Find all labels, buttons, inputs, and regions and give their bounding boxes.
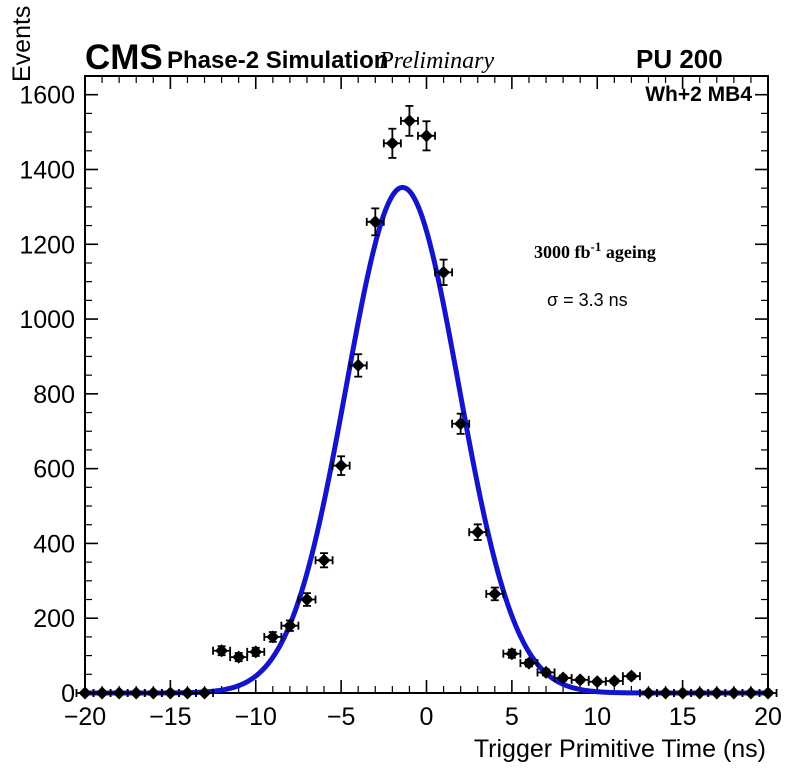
- data-point: [145, 687, 162, 700]
- data-point: [657, 687, 674, 700]
- ageing-exponent: -1: [591, 239, 602, 254]
- data-point: [367, 208, 384, 235]
- marker-diamond: [471, 526, 484, 539]
- data-point: [469, 524, 486, 540]
- preliminary-label: Preliminary: [378, 48, 494, 74]
- marker-diamond: [727, 687, 740, 700]
- marker-diamond: [676, 687, 689, 700]
- y-axis-title: Events: [8, 6, 36, 82]
- sigma-annotation: σ = 3.3 ns: [547, 290, 628, 310]
- header-band: CMS Phase-2 Simulation Preliminary PU 20…: [85, 38, 723, 77]
- ageing-value: 3000 fb: [534, 242, 591, 262]
- data-point: [691, 687, 708, 700]
- data-point: [418, 121, 435, 150]
- x-tick-label: 15: [669, 703, 697, 731]
- x-axis-tick-labels: −20−15−10−505101520: [64, 703, 782, 731]
- data-point: [264, 630, 281, 643]
- figure-root: CMS Phase-2 Simulation Preliminary PU 20…: [0, 0, 796, 772]
- marker-diamond: [181, 687, 194, 700]
- marker-diamond: [403, 114, 416, 127]
- data-point: [196, 687, 213, 700]
- plot-svg: CMS Phase-2 Simulation Preliminary PU 20…: [0, 0, 796, 772]
- y-tick-label: 1000: [19, 306, 75, 334]
- x-tick-label: −15: [149, 703, 191, 731]
- y-tick-label: 1400: [19, 156, 75, 184]
- marker-diamond: [591, 675, 604, 688]
- data-point: [128, 687, 145, 700]
- y-tick-label: 600: [33, 456, 75, 484]
- data-point: [111, 687, 128, 700]
- marker-diamond: [625, 670, 638, 683]
- x-tick-label: 0: [420, 703, 434, 731]
- marker-diamond: [79, 687, 92, 700]
- marker-diamond: [215, 644, 228, 657]
- gaussian-fit-curve: [85, 187, 768, 693]
- marker-diamond: [232, 651, 245, 664]
- marker-diamond: [386, 137, 399, 150]
- marker-diamond: [249, 645, 262, 658]
- marker-diamond: [693, 687, 706, 700]
- data-point: [503, 647, 520, 660]
- y-tick-label: 1600: [19, 82, 75, 110]
- data-point: [230, 651, 247, 664]
- data-point: [640, 687, 657, 700]
- data-point: [401, 106, 418, 136]
- marker-diamond: [198, 687, 211, 700]
- pileup-label: PU 200: [636, 44, 723, 74]
- ageing-annotation: 3000 fb-1 ageing: [534, 239, 656, 262]
- data-point: [708, 687, 725, 700]
- x-tick-label: 10: [583, 703, 611, 731]
- marker-diamond: [147, 687, 160, 700]
- data-point: [94, 687, 111, 700]
- data-point: [281, 619, 298, 632]
- axis-ticks: [85, 76, 768, 693]
- data-point: [606, 675, 623, 688]
- marker-diamond: [335, 459, 348, 472]
- ageing-suffix: ageing: [601, 242, 656, 262]
- marker-diamond: [164, 687, 177, 700]
- marker-diamond: [113, 687, 126, 700]
- marker-diamond: [659, 687, 672, 700]
- data-point: [674, 687, 691, 700]
- marker-diamond: [266, 630, 279, 643]
- marker-diamond: [420, 129, 433, 142]
- marker-diamond: [488, 587, 501, 600]
- sector-label: Wh+2 MB4: [645, 83, 752, 106]
- marker-diamond: [744, 687, 757, 700]
- x-tick-label: −10: [235, 703, 277, 731]
- simulation-label: Phase-2 Simulation: [167, 47, 388, 74]
- marker-diamond: [710, 687, 723, 700]
- y-tick-label: 0: [61, 680, 75, 708]
- marker-diamond: [762, 687, 775, 700]
- data-point: [384, 129, 401, 158]
- marker-diamond: [352, 359, 365, 372]
- y-tick-label: 800: [33, 381, 75, 409]
- data-point: [247, 645, 264, 658]
- data-points-layer: [76, 106, 776, 700]
- data-point: [179, 687, 196, 700]
- data-point: [759, 687, 776, 700]
- data-point: [623, 670, 640, 683]
- x-tick-label: 5: [505, 703, 519, 731]
- ageing-annotation-text: 3000 fb-1 ageing: [534, 239, 656, 262]
- marker-diamond: [642, 687, 655, 700]
- data-point: [589, 675, 606, 688]
- y-tick-label: 200: [33, 605, 75, 633]
- data-point: [572, 673, 589, 686]
- data-point: [742, 687, 759, 700]
- data-point: [725, 687, 742, 700]
- x-tick-label: 20: [754, 703, 782, 731]
- marker-diamond: [130, 687, 143, 700]
- data-point: [162, 687, 179, 700]
- y-tick-label: 400: [33, 530, 75, 558]
- marker-diamond: [505, 647, 518, 660]
- data-point: [213, 644, 230, 657]
- y-axis-tick-labels: 02004006008001000120014001600: [19, 82, 75, 708]
- marker-diamond: [96, 687, 109, 700]
- marker-diamond: [608, 675, 621, 688]
- marker-diamond: [318, 554, 331, 567]
- x-tick-label: −5: [327, 703, 356, 731]
- marker-diamond: [574, 673, 587, 686]
- data-point: [316, 553, 333, 567]
- data-point: [76, 687, 93, 700]
- plot-frame: [85, 76, 768, 693]
- x-axis-title: Trigger Primitive Time (ns): [474, 735, 766, 763]
- y-tick-label: 1200: [19, 231, 75, 259]
- cms-logo-text: CMS: [85, 38, 163, 77]
